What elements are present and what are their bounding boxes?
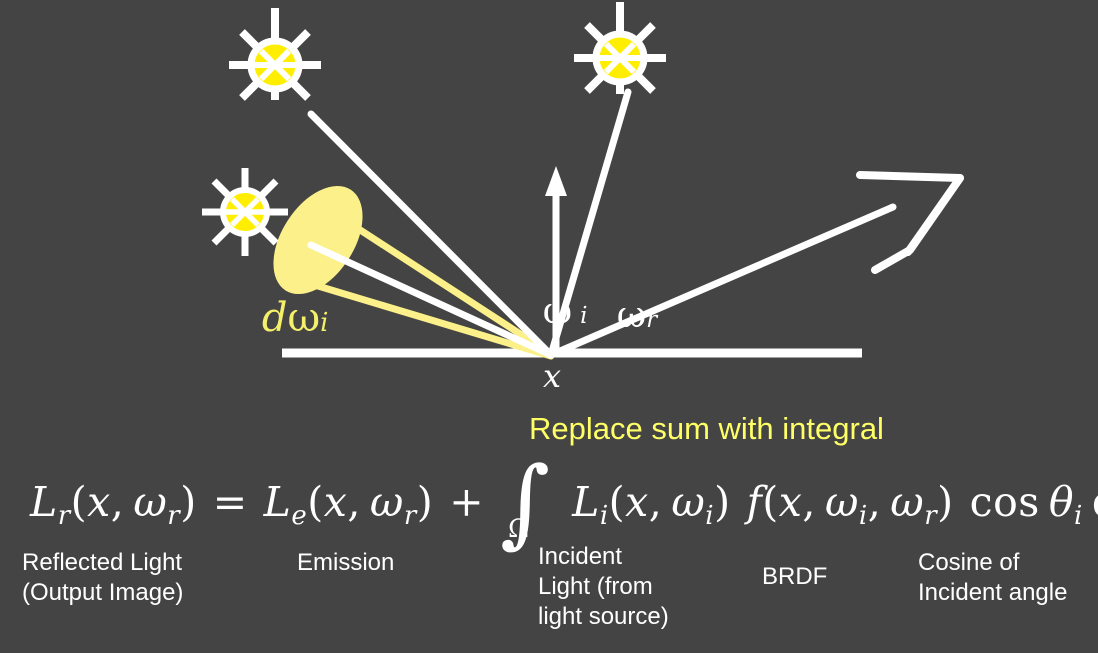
rendering-equation: Lr(x,ωr)=Le(x,ωr)+∫ΩLi(x,ωi)f(x,ωi,ωr)co… — [30, 462, 1098, 531]
eq-Lr: Lr — [30, 478, 71, 526]
headline-text: Replace sum with integral — [529, 413, 884, 444]
eq-equals: = — [213, 478, 248, 526]
light-source-left — [202, 168, 288, 256]
eq-Le: Le — [264, 478, 308, 526]
caption-reflected-light: Reflected Light (Output Image) — [22, 548, 183, 608]
caption-brdf: BRDF — [762, 562, 827, 592]
caption-incident-light: Incident Light (from light source) — [538, 542, 669, 632]
eq-cos: cos — [970, 478, 1040, 526]
caption-cosine: Cosine of Incident angle — [918, 548, 1067, 608]
caption-emission: Emission — [297, 548, 394, 578]
omega-r-label: ωr — [571, 262, 657, 370]
d-omega-i-omega: ω — [287, 295, 320, 341]
omega-r-subscript: r — [646, 307, 657, 333]
omega-i-symbol: ω — [543, 291, 572, 332]
omega-r-symbol: ω — [617, 295, 646, 336]
d-omega-i-d: d — [262, 295, 288, 341]
d-omega-i-label: dωi — [211, 258, 328, 378]
eq-plus: + — [449, 478, 484, 526]
eq-brdf-f: f — [747, 478, 763, 526]
d-omega-i-subscript: i — [320, 308, 328, 338]
eq-integral-domain: Ω — [508, 514, 529, 543]
eq-differential-d: d — [1092, 478, 1098, 526]
light-source-top-right — [574, 2, 666, 94]
slide-canvas: ωi ωr dωi x Replace sum with integral Lr… — [0, 0, 1098, 653]
eq-Li: Li — [572, 478, 609, 526]
eq-theta: θ — [1049, 478, 1074, 526]
eq-integral: ∫Ω — [500, 462, 556, 531]
eye-camera-icon — [860, 175, 960, 270]
surface-point-label: x — [543, 360, 561, 392]
light-source-top-left — [229, 8, 321, 100]
